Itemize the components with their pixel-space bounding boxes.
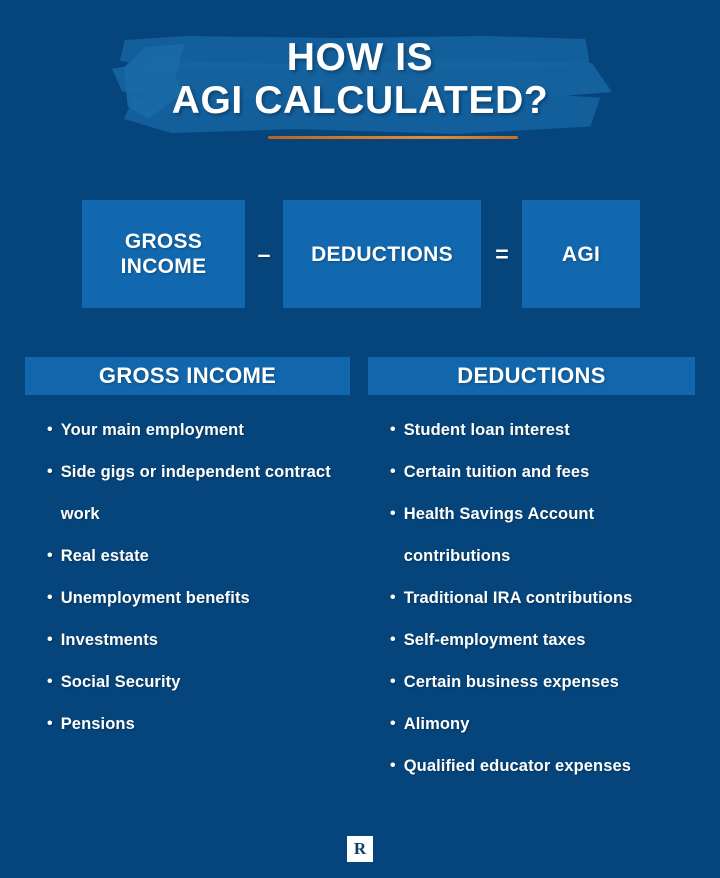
deductions-column: DEDUCTIONS • Student loan interest • Cer… [368, 357, 695, 787]
list-item-label: Your main employment [61, 409, 350, 451]
list-item: • Pensions [25, 703, 350, 745]
bullet-dot-icon: • [47, 535, 53, 577]
list-item: • Side gigs or independent contract work [25, 451, 350, 535]
list-item: • Self-employment taxes [368, 619, 695, 661]
ramsey-logo-icon: R [347, 836, 373, 862]
list-item-label: Certain business expenses [404, 661, 695, 703]
formula-term-agi: AGI [522, 200, 640, 308]
formula-gross-income-label: GROSSINCOME [121, 229, 207, 279]
list-item: • Alimony [368, 703, 695, 745]
list-item-label: Unemployment benefits [61, 577, 350, 619]
formula-gross-income-line-1: GROSS [125, 230, 202, 253]
formula-term-deductions: DEDUCTIONS [283, 200, 481, 308]
bullet-dot-icon: • [390, 703, 396, 745]
bullet-dot-icon: • [390, 661, 396, 703]
list-item-label: Social Security [61, 661, 350, 703]
list-item-label: Certain tuition and fees [404, 451, 695, 493]
list-item: • Social Security [25, 661, 350, 703]
bullet-dot-icon: • [390, 409, 396, 451]
list-item: • Traditional IRA contributions [368, 577, 695, 619]
bullet-dot-icon: • [390, 493, 396, 535]
list-item-label: Real estate [61, 535, 350, 577]
list-item: • Unemployment benefits [25, 577, 350, 619]
bullet-dot-icon: • [47, 661, 53, 703]
formula-equals-operator: = [486, 200, 518, 308]
bullet-dot-icon: • [390, 745, 396, 787]
page-title-line-2: AGI CALCULATED? [0, 79, 720, 122]
footer-logo: R [0, 836, 720, 862]
gross-income-column: GROSS INCOME • Your main employment • Si… [25, 357, 350, 745]
formula-gross-income-line-2: INCOME [121, 255, 207, 278]
list-item-label: Investments [61, 619, 350, 661]
bullet-dot-icon: • [47, 451, 53, 493]
page-title: HOW IS AGI CALCULATED? [0, 36, 720, 122]
bullet-dot-icon: • [47, 619, 53, 661]
deductions-column-header: DEDUCTIONS [368, 357, 695, 395]
bullet-dot-icon: • [390, 577, 396, 619]
list-item-label: Self-employment taxes [404, 619, 695, 661]
page-title-line-1: HOW IS [0, 36, 720, 79]
list-item-label: Student loan interest [404, 409, 695, 451]
formula-minus-operator: – [248, 200, 280, 308]
title-underline-accent [268, 136, 518, 139]
list-item: • Certain tuition and fees [368, 451, 695, 493]
list-item-label: Traditional IRA contributions [404, 577, 695, 619]
bullet-dot-icon: • [390, 619, 396, 661]
list-item: • Investments [25, 619, 350, 661]
agi-formula: GROSSINCOME – DEDUCTIONS = AGI [0, 200, 720, 308]
list-item: • Qualified educator expenses [368, 745, 695, 787]
list-item-label: Health Savings Account contributions [404, 493, 695, 577]
list-item: • Real estate [25, 535, 350, 577]
deductions-list: • Student loan interest • Certain tuitio… [368, 395, 695, 787]
list-item-label: Side gigs or independent contract work [61, 451, 350, 535]
hero-section: HOW IS AGI CALCULATED? [0, 0, 720, 160]
bullet-dot-icon: • [47, 703, 53, 745]
list-item-label: Pensions [61, 703, 350, 745]
list-item-label: Qualified educator expenses [404, 745, 695, 787]
list-item: • Health Savings Account contributions [368, 493, 695, 577]
bullet-dot-icon: • [47, 409, 53, 451]
bullet-dot-icon: • [390, 451, 396, 493]
gross-income-column-header: GROSS INCOME [25, 357, 350, 395]
list-item: • Your main employment [25, 409, 350, 451]
formula-term-gross-income: GROSSINCOME [82, 200, 245, 308]
bullet-dot-icon: • [47, 577, 53, 619]
list-item: • Certain business expenses [368, 661, 695, 703]
list-item: • Student loan interest [368, 409, 695, 451]
list-item-label: Alimony [404, 703, 695, 745]
gross-income-list: • Your main employment • Side gigs or in… [25, 395, 350, 745]
